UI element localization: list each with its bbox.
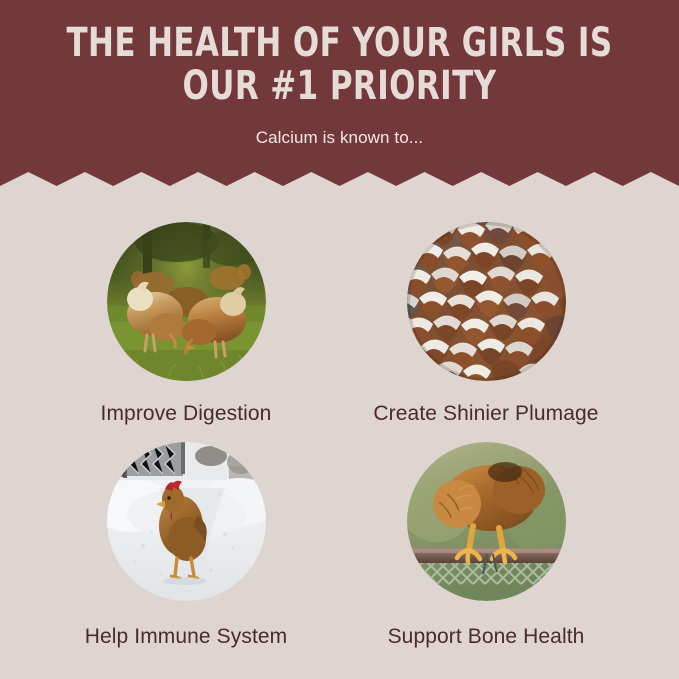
chicken-feathers-closeup-photo xyxy=(407,222,566,381)
page-title: THE HEALTH OF YOUR GIRLS IS OUR #1 PRIOR… xyxy=(48,22,632,108)
chicken-in-snow-photo xyxy=(107,442,266,601)
benefit-label: Help Immune System xyxy=(26,625,346,649)
chickens-grazing-grass-photo xyxy=(107,222,266,381)
benefit-card: Improve Digestion xyxy=(26,222,346,426)
page-subtitle: Calcium is known to... xyxy=(0,128,679,148)
zigzag-divider xyxy=(0,168,679,200)
poster-root: THE HEALTH OF YOUR GIRLS IS OUR #1 PRIOR… xyxy=(0,0,679,679)
page-title-line2: OUR #1 PRIORITY xyxy=(48,65,632,108)
benefit-label: Support Bone Health xyxy=(326,625,646,649)
benefit-label: Create Shinier Plumage xyxy=(326,402,646,426)
benefit-card: Create Shinier Plumage xyxy=(326,222,646,426)
page-title-line1: THE HEALTH OF YOUR GIRLS IS xyxy=(48,22,632,65)
benefits-grid: Improve Digestion xyxy=(0,210,679,679)
benefit-label: Improve Digestion xyxy=(26,402,346,426)
benefit-card: Support Bone Health xyxy=(326,442,646,649)
chicken-perched-on-fence-photo xyxy=(407,442,566,601)
benefit-card: Help Immune System xyxy=(26,442,346,649)
